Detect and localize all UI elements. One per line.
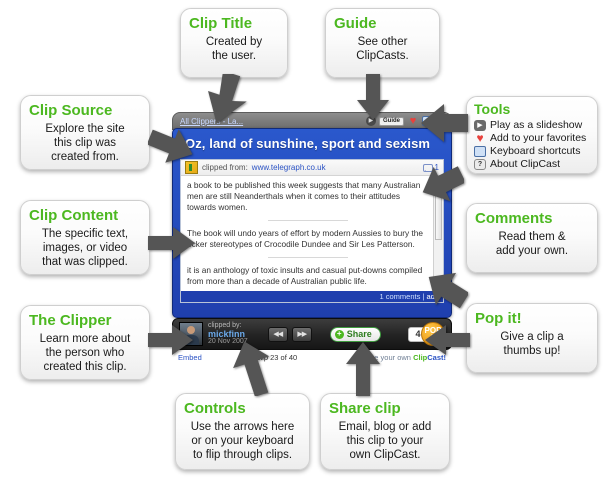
clip-paragraph: a book to be published this week suggest…: [187, 180, 429, 213]
clip-content-body: a book to be published this week suggest…: [181, 176, 443, 291]
callout-title: Clip Source: [29, 102, 141, 120]
widget-footer-bar: clipped by: mickfinn 20 Nov 2007 ◀◀ ▶▶ +…: [172, 318, 452, 350]
paragraph-divider: [268, 257, 348, 258]
arrow-guide: [357, 74, 389, 122]
arrow-clip-title: [206, 74, 252, 129]
source-url-link[interactable]: www.telegraph.co.uk: [252, 163, 326, 172]
callout-title: The Clipper: [29, 312, 141, 330]
callout-title: Guide: [334, 15, 431, 33]
paragraph-divider: [268, 220, 348, 221]
clipped-from-label: clipped from:: [202, 163, 248, 172]
callout-title: Controls: [184, 400, 301, 418]
callout-body: Read them & add your own.: [475, 230, 589, 258]
heart-icon: ♥: [474, 133, 486, 144]
widget-frame: Oz, land of sunshine, sport and sexism c…: [172, 128, 452, 318]
clip-paragraph: it is an anthology of toxic insults and …: [187, 265, 429, 287]
arrow-pop-it: [424, 325, 470, 355]
clip-paragraph: The book will undo years of effort by mo…: [187, 228, 429, 250]
next-clip-button[interactable]: ▶▶: [292, 327, 312, 342]
share-button-label: Share: [347, 329, 372, 339]
tool-item-label: Add to your favorites: [490, 132, 586, 145]
callout-tools: Tools ▶ Play as a slideshow ♥ Add to you…: [466, 96, 598, 174]
callout-share-clip: Share clip Email, blog or add this clip …: [320, 393, 450, 470]
callout-controls: Controls Use the arrows here or on your …: [175, 393, 310, 470]
clip-title: Oz, land of sunshine, sport and sexism: [173, 129, 451, 157]
tool-item-label: Play as a slideshow: [490, 119, 582, 132]
arrow-comments: [420, 163, 464, 205]
callout-title: Share clip: [329, 400, 441, 418]
callout-clip-title: Clip Title Created by the user.: [180, 8, 288, 78]
callout-body: Use the arrows here or on your keyboard …: [184, 420, 301, 462]
widget-bottom-bar: Embed clip 23 of 40 make your own ClipCa…: [172, 350, 452, 365]
callout-comments: Comments Read them & add your own.: [466, 203, 598, 273]
callout-clip-content: Clip Content The specific text, images, …: [20, 200, 150, 275]
tool-item-about-clipcast[interactable]: ? About ClipCast: [474, 158, 591, 171]
tools-list: ▶ Play as a slideshow ♥ Add to your favo…: [474, 119, 591, 171]
callout-title: Comments: [475, 210, 589, 228]
callout-body: The specific text, images, or video that…: [29, 227, 141, 269]
callout-body: Give a clip a thumbs up!: [475, 330, 589, 358]
callout-title: Tools: [474, 101, 591, 117]
clip-navigation: ◀◀ ▶▶: [268, 327, 312, 342]
clipcast-widget: All Clippers - La... ▶ Guide ♥ ? Oz, lan…: [172, 112, 452, 367]
clip-panel: clipped from: www.telegraph.co.uk 1 a bo…: [180, 159, 444, 303]
arrow-the-clipper: [148, 325, 194, 355]
callout-the-clipper: The Clipper Learn more about the person …: [20, 305, 150, 380]
play-icon: ▶: [474, 120, 486, 131]
tool-item-label: About ClipCast: [490, 158, 560, 171]
arrow-clip-source: [148, 128, 196, 170]
callout-title: Clip Title: [189, 15, 279, 33]
callout-body: Learn more about the person who created …: [29, 332, 141, 374]
tool-item-keyboard-shortcuts[interactable]: Keyboard shortcuts: [474, 145, 591, 158]
keyboard-icon: [474, 146, 486, 157]
arrow-tools: [418, 104, 468, 142]
callout-clip-source: Clip Source Explore the site this clip w…: [20, 95, 150, 170]
arrow-controls: [232, 338, 274, 396]
callout-guide: Guide See other ClipCasts.: [325, 8, 440, 78]
comments-count-label: 1 comments: [379, 292, 420, 301]
callout-body: Created by the user.: [189, 35, 279, 63]
callout-body: Email, blog or add this clip to your own…: [329, 420, 441, 462]
question-icon: ?: [474, 159, 486, 170]
tool-item-play-slideshow[interactable]: ▶ Play as a slideshow: [474, 119, 591, 132]
plus-icon: +: [335, 330, 344, 339]
tool-item-favorites[interactable]: ♥ Add to your favorites: [474, 132, 591, 145]
comments-bar[interactable]: 1 comments | add: [181, 291, 443, 302]
callout-pop-it: Pop it! Give a clip a thumbs up!: [466, 303, 598, 373]
callout-title: Clip Content: [29, 207, 141, 225]
callout-title: Pop it!: [475, 310, 589, 328]
arrow-comments-lower: [424, 268, 468, 314]
callout-body: Explore the site this clip was created f…: [29, 122, 141, 164]
arrow-clip-content: [148, 227, 196, 259]
tool-item-label: Keyboard shortcuts: [490, 145, 580, 158]
arrow-share-clip: [345, 340, 381, 396]
clipper-username-link[interactable]: mickfinn: [208, 330, 248, 338]
clip-source-row: clipped from: www.telegraph.co.uk 1: [181, 160, 443, 176]
callout-body: See other ClipCasts.: [334, 35, 431, 63]
